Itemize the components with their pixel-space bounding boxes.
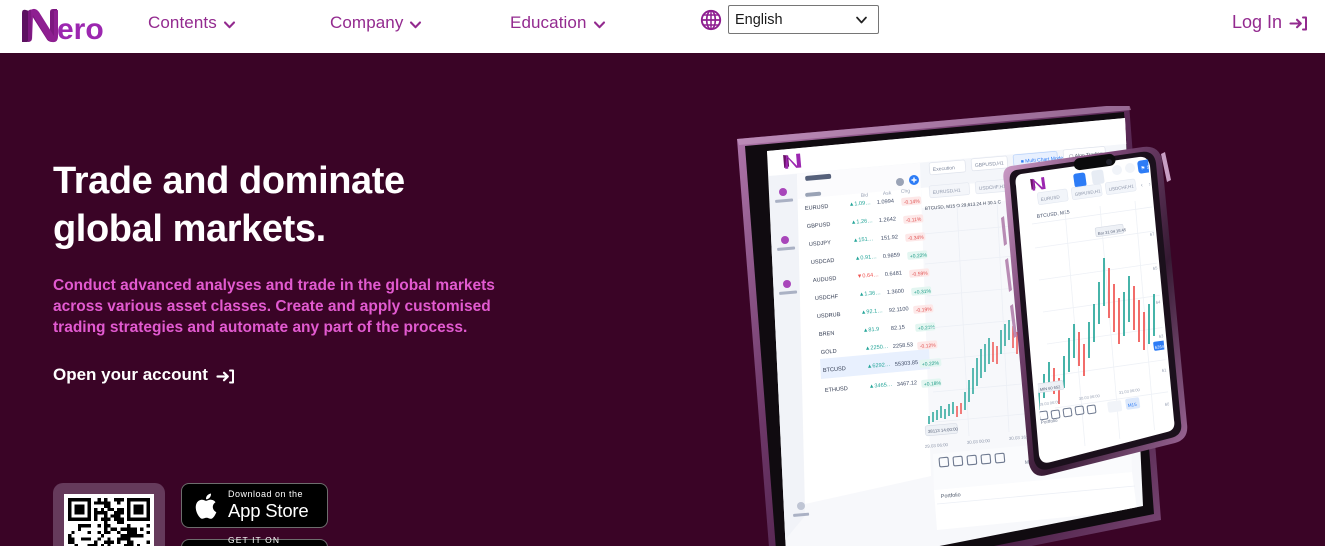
svg-text:▢ Algo Trading: ▢ Algo Trading	[1069, 151, 1104, 160]
svg-text:61 855.00: 61 855.00	[1161, 365, 1181, 373]
svg-text:USDJPY: USDJPY	[809, 240, 832, 248]
app-store-small-label: Download on the	[228, 490, 308, 499]
svg-text:▲92.1…: ▲92.1…	[861, 308, 883, 316]
svg-text:31.03 08:00: 31.03 08:00	[1051, 430, 1075, 437]
svg-text:GOLD: GOLD	[821, 349, 837, 356]
svg-text:USDCHF,H1: USDCHF,H1	[979, 184, 1007, 192]
qr-code-inner	[64, 494, 154, 546]
svg-text:EURUSD: EURUSD	[805, 204, 829, 212]
nero-logo[interactable]: ero	[16, 6, 116, 46]
svg-text:62641.70: 62641.70	[1154, 343, 1173, 350]
sign-in-icon	[1289, 14, 1308, 33]
svg-text:EURUSD: EURUSD	[1040, 194, 1060, 202]
qr-code[interactable]	[53, 483, 165, 546]
download-apps-row: Download on the App Store	[53, 483, 328, 546]
svg-text:▲151…: ▲151…	[853, 236, 874, 244]
svg-text:H1: H1	[1057, 455, 1064, 462]
svg-text:-0.12%: -0.12%	[920, 343, 937, 350]
tablet-device: Bid Ask Chg EURUSD ▲1.09… 1.0994 -0.	[737, 106, 1161, 546]
phone-device: ⚑ Signal EURUSD GBPUSD,H1 USDCHF,H1 ‹	[1001, 147, 1195, 476]
svg-text:▲6292…: ▲6292…	[867, 362, 891, 370]
svg-text:BTCUSD, M15: BTCUSD, M15	[1036, 209, 1070, 220]
svg-text:▲3465…: ▲3465…	[869, 382, 893, 390]
svg-text:USDCHF,H1: USDCHF,H1	[1108, 183, 1134, 192]
svg-text:BTCUSD,M15: BTCUSD,M15	[1065, 189, 1095, 197]
svg-text:MIN 60 652: MIN 60 652	[1039, 384, 1061, 392]
google-play-badge[interactable]: GET IT ON Google Play	[181, 539, 328, 546]
device-mockup: Bid Ask Chg EURUSD ▲1.09… 1.0994 -0.	[725, 106, 1325, 546]
svg-text:29.03 06:00: 29.03 06:00	[1038, 399, 1060, 407]
svg-text:| M 155.98 / 3.4/55: | M 155.98 / 3.4/55	[1099, 187, 1138, 195]
svg-text:30.03 16:00: 30.03 16:00	[1009, 434, 1033, 441]
svg-text:|: |	[1069, 193, 1071, 198]
svg-text:▲1.36…: ▲1.36…	[859, 290, 881, 298]
svg-text:M15: M15	[1127, 402, 1137, 408]
svg-text:Portfolio: Portfolio	[941, 492, 961, 500]
svg-text:65 842.00: 65 842.00	[1152, 263, 1172, 271]
svg-text:+0.22%: +0.22%	[922, 360, 940, 368]
svg-text:+: +	[1035, 196, 1038, 201]
hero-copy-block: Trade and dominate global markets. Condu…	[53, 157, 573, 385]
svg-text:D1: D1	[1085, 452, 1092, 459]
google-play-badge-texts: GET IT ON Google Play	[228, 536, 316, 546]
page-root: ero Contents Company Education	[0, 0, 1325, 546]
svg-text:38113 14:00:00: 38113 14:00:00	[928, 426, 959, 434]
svg-text:▲0.91…: ▲0.91…	[855, 254, 877, 262]
nav-item-education-label: Education	[510, 13, 587, 33]
app-store-badge-texts: Download on the App Store	[228, 490, 308, 521]
svg-text:⋯: ⋯	[1113, 450, 1119, 456]
chevron-down-icon	[409, 18, 422, 31]
svg-text:611309.93: 611309.93	[1041, 193, 1063, 200]
app-store-big-label: App Store	[228, 501, 308, 521]
svg-text:1.0994: 1.0994	[877, 199, 895, 206]
chevron-down-icon	[593, 18, 606, 31]
svg-text:55303.85: 55303.85	[895, 360, 919, 368]
svg-text:67 142.00: 67 142.00	[1149, 229, 1169, 237]
svg-text:2258.53: 2258.53	[893, 342, 914, 350]
svg-text:Bid: Bid	[861, 192, 869, 199]
svg-text:31.03 06:00: 31.03 06:00	[1118, 387, 1140, 395]
svg-text:BTCUSD, M15 O 29,613.24 H 30: BTCUSD, M15 O 29,613.24 H 30.1 C	[925, 199, 1002, 211]
svg-text:AUDUSD: AUDUSD	[813, 276, 837, 284]
svg-text:Chg: Chg	[901, 188, 911, 195]
google-play-small-label: GET IT ON	[228, 536, 316, 545]
arrow-right-bracket-icon	[216, 367, 235, 386]
login-button[interactable]: Log In	[1232, 12, 1308, 33]
svg-text:▼0.64…: ▼0.64…	[857, 272, 879, 280]
login-label: Log In	[1232, 12, 1282, 33]
qr-code-canvas	[68, 498, 150, 546]
svg-text:3467.12: 3467.12	[897, 380, 918, 388]
svg-text:-0.14%: -0.14%	[904, 199, 921, 206]
svg-text:151.92: 151.92	[881, 235, 899, 242]
svg-text:+0.21%: +0.21%	[918, 324, 936, 332]
svg-text:+0.31%: +0.31%	[914, 288, 932, 296]
language-select[interactable]: EnglishDeutschFrançaisEspañolTürkçe	[728, 5, 879, 34]
nav-item-company-label: Company	[330, 13, 403, 33]
svg-text:›: ›	[1148, 182, 1151, 188]
svg-text:▲1.09…: ▲1.09…	[849, 200, 871, 208]
svg-text:■ Multi Chart Mode: ■ Multi Chart Mode	[1021, 155, 1064, 165]
svg-text:+0.22%: +0.22%	[910, 252, 928, 260]
svg-text:GBPUSD,H1: GBPUSD,H1	[1074, 188, 1101, 197]
svg-text:63 181.00: 63 181.00	[1158, 331, 1178, 339]
apple-logo-icon	[193, 491, 219, 521]
svg-text:USDRUB: USDRUB	[817, 312, 841, 320]
app-store-badge[interactable]: Download on the App Store	[181, 483, 328, 528]
svg-text:82.15: 82.15	[891, 325, 905, 332]
svg-text:▲81.9: ▲81.9	[863, 327, 880, 334]
nav-item-contents[interactable]: Contents	[148, 13, 236, 33]
hero-section: Trade and dominate global markets. Condu…	[0, 53, 1325, 546]
svg-text:XAUUSD,H1: XAUUSD,H1	[1025, 180, 1053, 188]
svg-text:M1: M1	[1025, 459, 1033, 466]
svg-text:-0.11%: -0.11%	[906, 217, 922, 224]
svg-text:W1: W1	[1099, 451, 1107, 458]
nav-item-contents-label: Contents	[148, 13, 217, 33]
svg-text:▲2250…: ▲2250…	[865, 344, 889, 352]
svg-text:1.3600: 1.3600	[887, 289, 905, 296]
svg-text:-0.59%: -0.59%	[912, 271, 929, 278]
svg-text:Portfolio: Portfolio	[1040, 418, 1058, 425]
nav-item-education[interactable]: Education	[510, 13, 606, 33]
svg-text:▲1.26…: ▲1.26…	[851, 218, 873, 226]
svg-text:Bar 31 04 15:45: Bar 31 04 15:45	[1097, 227, 1127, 236]
svg-text:55513 06:00:00: 55513 06:00:00	[1024, 246, 1055, 254]
svg-text:H4: H4	[1071, 454, 1078, 461]
svg-text:M15: M15	[1040, 457, 1050, 464]
open-account-label: Open your account	[53, 365, 208, 385]
svg-text:30.03 00:00: 30.03 00:00	[967, 438, 991, 445]
chevron-down-icon	[223, 18, 236, 31]
svg-text:BREN: BREN	[819, 331, 835, 338]
hero-title: Trade and dominate global markets.	[53, 157, 573, 253]
hero-subtitle: Conduct advanced analyses and trade in t…	[53, 276, 515, 338]
svg-text:+: +	[1156, 180, 1161, 186]
svg-text:30.03 06:00: 30.03 06:00	[1078, 393, 1100, 401]
svg-text:60.69428: 60.69428	[1074, 190, 1094, 197]
nav-item-company[interactable]: Company	[330, 13, 422, 33]
svg-text:+0.18%: +0.18%	[924, 380, 942, 388]
svg-text:EURUSD,H1: EURUSD,H1	[933, 188, 961, 196]
svg-text:USDCAD: USDCAD	[811, 258, 835, 266]
svg-text:‹: ‹	[1140, 183, 1143, 189]
svg-text:USDCHF: USDCHF	[815, 294, 839, 302]
svg-text:-0.19%: -0.19%	[916, 307, 933, 314]
svg-text:29.03 06:00: 29.03 06:00	[925, 442, 949, 449]
svg-text:-0.34%: -0.34%	[908, 235, 925, 242]
svg-text:ETHUSD: ETHUSD	[825, 386, 848, 394]
top-navigation-bar: ero Contents Company Education	[0, 0, 1325, 53]
svg-text:GBPUSD,H1: GBPUSD,H1	[975, 160, 1005, 169]
globe-icon	[700, 9, 722, 31]
svg-text:GBPUSD: GBPUSD	[807, 222, 831, 230]
svg-text:1.2642: 1.2642	[879, 217, 897, 224]
svg-text:64 507.00: 64 507.00	[1155, 297, 1175, 305]
open-account-link[interactable]: Open your account	[53, 365, 235, 385]
svg-text:⚑ Signal: ⚑ Signal	[1140, 163, 1160, 172]
svg-text:BTCUSD: BTCUSD	[823, 366, 846, 374]
svg-text:60 540.00: 60 540.00	[1164, 399, 1184, 407]
svg-text:54728.48: 54728.48	[1013, 196, 1033, 203]
svg-text:ero: ero	[57, 13, 104, 46]
svg-text:0.9859: 0.9859	[883, 253, 901, 260]
svg-text:Ask: Ask	[883, 190, 892, 197]
svg-text:Execution: Execution	[933, 165, 956, 173]
svg-text:92.1100: 92.1100	[889, 306, 909, 314]
svg-text:0.6481: 0.6481	[885, 271, 903, 278]
